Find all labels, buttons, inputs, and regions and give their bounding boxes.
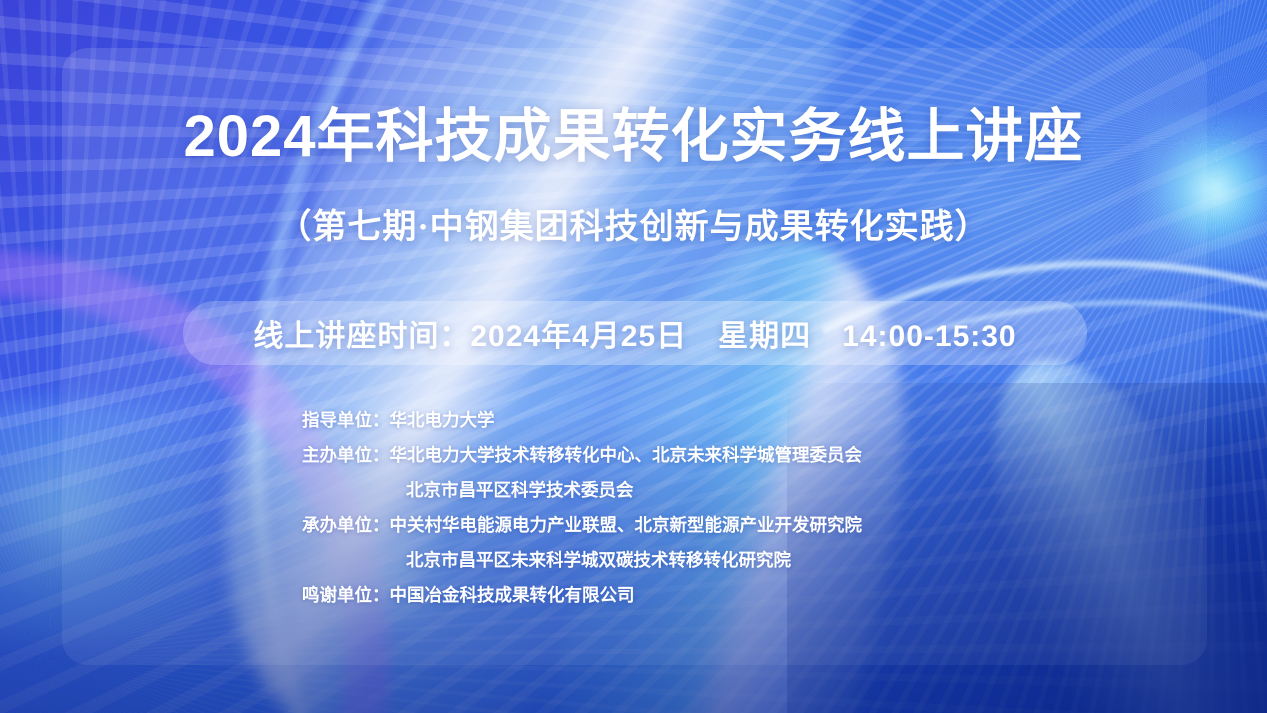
organizer-line-undertaker-cont: 北京市昌平区未来科学城双碳技术转移转化研究院 (0, 543, 1267, 578)
organizer-line-host-cont: 北京市昌平区科学技术委员会 (0, 473, 1267, 508)
organizer-line-host: 主办单位：华北电力大学技术转移转化中心、北京未来科学城管理委员会 (0, 438, 1267, 473)
organizer-line-acknowledgement: 鸣谢单位：中国冶金科技成果转化有限公司 (0, 578, 1267, 613)
schedule-text: 线上讲座时间：2024年4月25日 星期四 14:00-15:30 (253, 311, 1016, 355)
organizer-line-guidance: 指导单位：华北电力大学 (0, 403, 1267, 438)
page-title: 2024年科技成果转化实务线上讲座 (0, 108, 1267, 166)
event-banner: 2024年科技成果转化实务线上讲座 （第七期·中钢集团科技创新与成果转化实践） … (0, 0, 1267, 713)
page-subtitle: （第七期·中钢集团科技创新与成果转化实践） (0, 211, 1267, 245)
organizer-list: 指导单位：华北电力大学 主办单位：华北电力大学技术转移转化中心、北京未来科学城管… (0, 403, 1267, 613)
organizer-line-undertaker: 承办单位：中关村华电能源电力产业联盟、北京新型能源产业开发研究院 (0, 508, 1267, 543)
schedule-banner: 线上讲座时间：2024年4月25日 星期四 14:00-15:30 (183, 301, 1087, 365)
